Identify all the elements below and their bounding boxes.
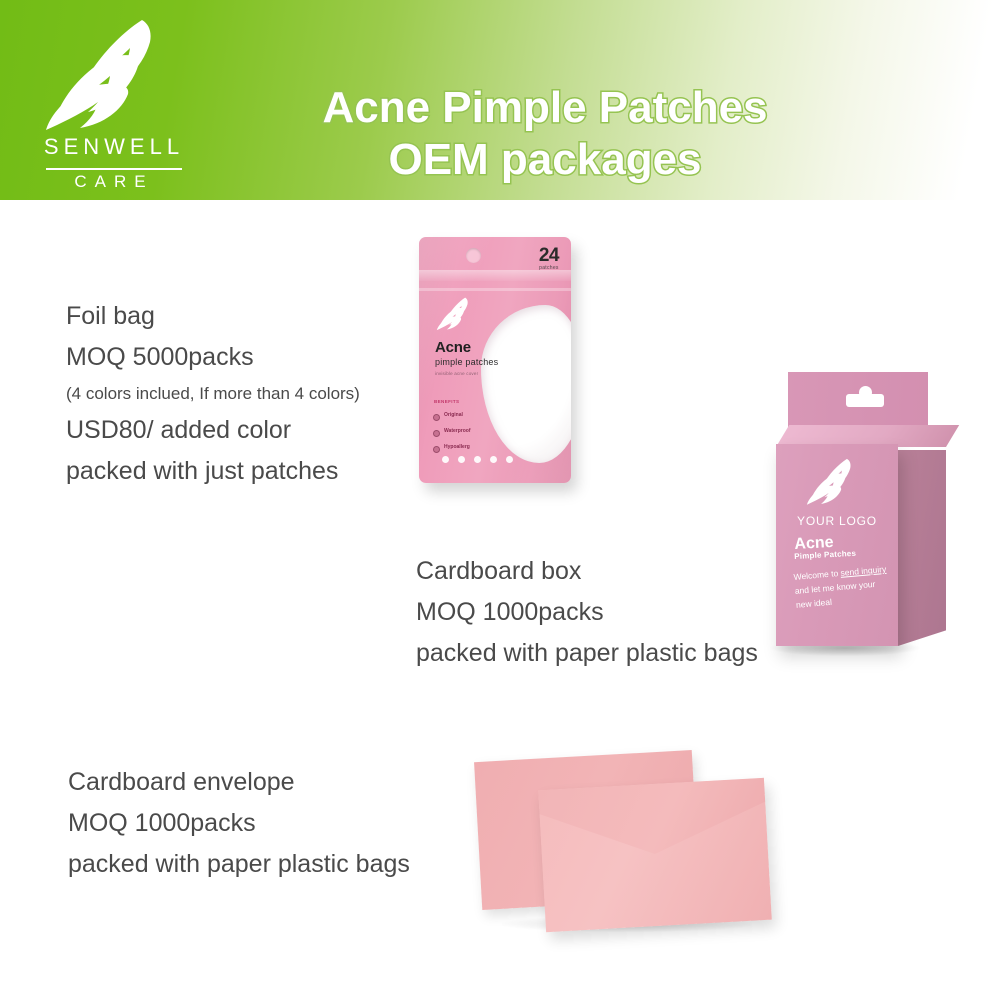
- foil-bag-note: (4 colors inclued, If more than 4 colors…: [66, 378, 360, 410]
- box-front-face: YOUR LOGO Acne Pimple Patches Welcome to…: [776, 444, 898, 646]
- foil-bag-product-image: 24 patches Acne pimple patches invisible…: [419, 237, 571, 483]
- box-inquiry-message: Welcome to send inquiry and let me know …: [793, 561, 900, 612]
- patch-count-badge: 24 patches: [539, 246, 559, 271]
- bullet-dot-icon: [433, 414, 440, 421]
- box-side-face: [898, 450, 946, 646]
- send-inquiry-link[interactable]: send inquiry: [840, 564, 887, 578]
- cardboard-envelope-packing: packed with paper plastic bags: [68, 844, 410, 885]
- dot-icon: [490, 456, 497, 463]
- euro-slot-icon: [846, 394, 884, 407]
- decorative-dots: [442, 456, 513, 463]
- foil-bag-benefits-label: BENEFITS: [434, 399, 459, 405]
- dot-icon: [506, 456, 513, 463]
- page-title-line1: Acne Pimple Patches: [322, 83, 767, 132]
- foil-bag-text-block: Foil bag MOQ 5000packs (4 colors inclued…: [66, 296, 360, 492]
- inquiry-message-line2: and let me know your: [794, 579, 875, 596]
- foil-bag-subtitle: pimple patches: [435, 357, 498, 368]
- bullet-dot-icon: [433, 446, 440, 453]
- dot-icon: [474, 456, 481, 463]
- foil-bag-brand: Acne: [435, 340, 471, 356]
- brand-logo: SENWELL CARE: [24, 18, 204, 188]
- benefit-label: Original: [444, 412, 463, 419]
- benefit-label: Waterproof: [444, 428, 470, 435]
- cardboard-box-product-image: YOUR LOGO Acne Pimple Patches Welcome to…: [752, 372, 960, 660]
- page-title-line2: OEM packages: [200, 134, 890, 186]
- brand-subtitle: CARE: [24, 172, 204, 192]
- benefit-label: Hypoallerg: [444, 444, 470, 451]
- cardboard-box-packing: packed with paper plastic bags: [416, 633, 758, 674]
- box-hang-tab: [788, 372, 928, 430]
- foil-bag-title: Foil bag: [66, 296, 360, 337]
- box-subtitle: Pimple Patches: [794, 549, 856, 562]
- cardboard-envelope-moq: MOQ 1000packs: [68, 803, 410, 844]
- page-title: Acne Pimple Patches OEM packages: [200, 82, 890, 186]
- envelope-front: [538, 778, 772, 932]
- zipper-strip: [419, 270, 571, 281]
- brand-name: SENWELL: [24, 134, 204, 160]
- foil-bag-moq: MOQ 5000packs: [66, 337, 360, 378]
- patch-count-number: 24: [539, 246, 559, 265]
- hang-hole-icon: [466, 248, 481, 263]
- senwell-flame-icon: [806, 458, 862, 506]
- bullet-dot-icon: [433, 430, 440, 437]
- product-infographic-page: SENWELL CARE Acne Pimple Patches OEM pac…: [0, 0, 1000, 1000]
- foil-bag-packing: packed with just patches: [66, 451, 360, 492]
- zipper-seam: [419, 288, 571, 291]
- header-banner: SENWELL CARE Acne Pimple Patches OEM pac…: [0, 0, 1000, 200]
- your-logo-placeholder: YOUR LOGO: [776, 514, 898, 528]
- dot-icon: [458, 456, 465, 463]
- cardboard-box-text-block: Cardboard box MOQ 1000packs packed with …: [416, 551, 758, 674]
- dot-icon: [442, 456, 449, 463]
- foil-bag-tagline: invisible acne cover: [435, 371, 478, 377]
- inquiry-message-prefix: Welcome to: [793, 568, 841, 582]
- inquiry-message-line3: new ideal: [796, 597, 833, 610]
- foil-bag-price: USD80/ added color: [66, 410, 360, 451]
- envelope-product-image: [478, 748, 778, 936]
- envelope-flap: [538, 778, 768, 861]
- cardboard-envelope-title: Cardboard envelope: [68, 762, 410, 803]
- transparent-window: [481, 305, 571, 463]
- cardboard-envelope-text-block: Cardboard envelope MOQ 1000packs packed …: [68, 762, 410, 885]
- senwell-flame-icon: [436, 297, 476, 331]
- cardboard-box-moq: MOQ 1000packs: [416, 592, 758, 633]
- cardboard-box-title: Cardboard box: [416, 551, 758, 592]
- brand-divider: [46, 168, 182, 170]
- senwell-flame-icon: [46, 18, 176, 133]
